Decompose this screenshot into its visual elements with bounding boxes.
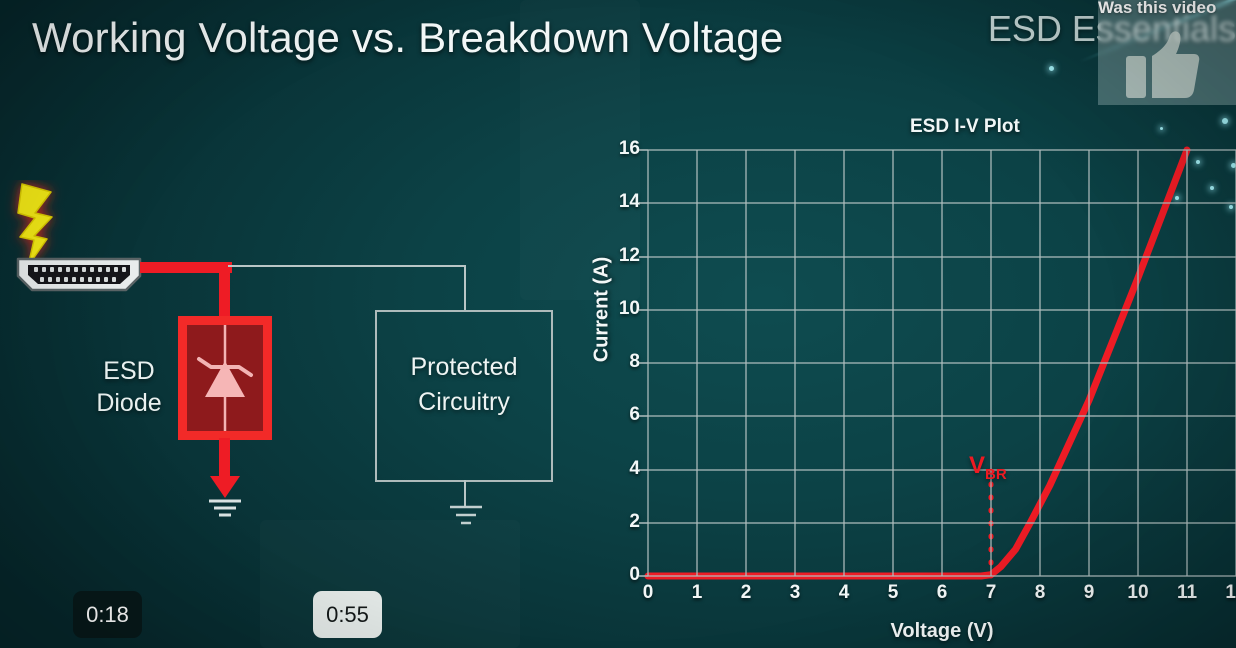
- chart-x-tick-label: 3: [777, 582, 813, 604]
- chart-x-tick-label: 9: [1071, 582, 1107, 604]
- chart-x-tick-label: 2: [728, 582, 764, 604]
- feedback-overlay-text: Was this video: [1098, 0, 1236, 18]
- chart-gridline-horizontal: [648, 575, 1236, 577]
- esd-diode-label-line2: Diode: [96, 389, 161, 417]
- annotation-symbol: V: [969, 452, 985, 479]
- chart-gridline-horizontal: [648, 256, 1236, 258]
- chart-gridline-horizontal: [648, 469, 1236, 471]
- esd-diode-label-line1: ESD: [103, 357, 154, 385]
- surge-current-wire-vertical: [219, 262, 230, 324]
- chart-x-tick-label: 6: [924, 582, 960, 604]
- chart-y-tick-label: 14: [604, 191, 640, 213]
- annotation-subscript: BR: [985, 465, 1007, 482]
- chart-gridline-horizontal: [648, 309, 1236, 311]
- protected-circuitry-label: Protected Circuitry: [377, 350, 551, 420]
- signal-wire-down: [464, 265, 466, 312]
- esd-diode-label: ESD Diode: [84, 355, 174, 419]
- esd-iv-chart: ESD I-V Plot 012345678910111202468101214…: [576, 108, 1236, 648]
- thumbs-up-icon[interactable]: [1126, 30, 1200, 98]
- chart-plot-area: 01234567891011120246810121416VBR: [648, 150, 1236, 576]
- hdmi-connector-icon: [14, 256, 144, 293]
- chart-y-tickmark: [639, 202, 648, 204]
- protected-label-line1: Protected: [410, 353, 517, 381]
- chart-gridline-horizontal: [648, 362, 1236, 364]
- chart-y-tick-label: 2: [604, 511, 640, 533]
- ground-symbol-icon: [204, 470, 246, 520]
- chart-y-tick-label: 4: [604, 458, 640, 480]
- breakdown-voltage-annotation-label: VBR: [969, 452, 1007, 483]
- chart-y-tickmark: [639, 575, 648, 577]
- chart-y-tickmark: [639, 149, 648, 151]
- chart-y-tickmark: [639, 256, 648, 258]
- chart-y-tick-label: 0: [604, 564, 640, 586]
- protected-circuitry-component[interactable]: Protected Circuitry: [375, 310, 553, 482]
- esd-diode-component[interactable]: [178, 316, 272, 440]
- chart-x-axis-label: Voltage (V): [648, 620, 1236, 643]
- protected-label-line2: Circuitry: [418, 388, 510, 416]
- chart-y-tickmark: [639, 415, 648, 417]
- video-frame: Working Voltage vs. Breakdown Voltage ES…: [0, 0, 1236, 648]
- chart-y-tickmark: [639, 362, 648, 364]
- chart-x-tick-label: 4: [826, 582, 862, 604]
- chart-y-tickmark: [639, 522, 648, 524]
- chart-y-tick-label: 6: [604, 404, 640, 426]
- signal-wire-top: [228, 265, 466, 267]
- chart-y-axis-label: Current (A): [591, 220, 614, 400]
- page-title: Working Voltage vs. Breakdown Voltage: [32, 14, 783, 62]
- chart-x-tick-label: 1: [679, 582, 715, 604]
- chart-x-tick-label: 5: [875, 582, 911, 604]
- chart-gridline-horizontal: [648, 149, 1236, 151]
- timestamp-badge-end[interactable]: 0:55: [313, 591, 382, 638]
- ground-symbol-icon-2: [447, 504, 485, 532]
- timestamp-badge-start[interactable]: 0:18: [73, 591, 142, 638]
- decorative-spark: [1049, 66, 1054, 71]
- chart-gridline-horizontal: [648, 415, 1236, 417]
- chart-y-tickmark: [639, 309, 648, 311]
- chart-gridline-horizontal: [648, 522, 1236, 524]
- chart-gridline-horizontal: [648, 202, 1236, 204]
- feedback-overlay[interactable]: Was this video: [1098, 0, 1236, 105]
- circuit-diagram: ESD Diode Protected Circuitry: [0, 170, 600, 570]
- chart-x-tick-label: 10: [1120, 582, 1156, 604]
- chart-x-tick-label: 11: [1169, 582, 1205, 604]
- chart-y-tickmark: [639, 469, 648, 471]
- chart-x-tick-label: 7: [973, 582, 1009, 604]
- chart-y-tick-label: 16: [604, 138, 640, 160]
- chart-x-tick-label: 12: [1218, 582, 1236, 604]
- chart-title: ESD I-V Plot: [576, 116, 1236, 138]
- chart-x-tick-label: 8: [1022, 582, 1058, 604]
- tvs-zener-diode-icon: [187, 325, 263, 431]
